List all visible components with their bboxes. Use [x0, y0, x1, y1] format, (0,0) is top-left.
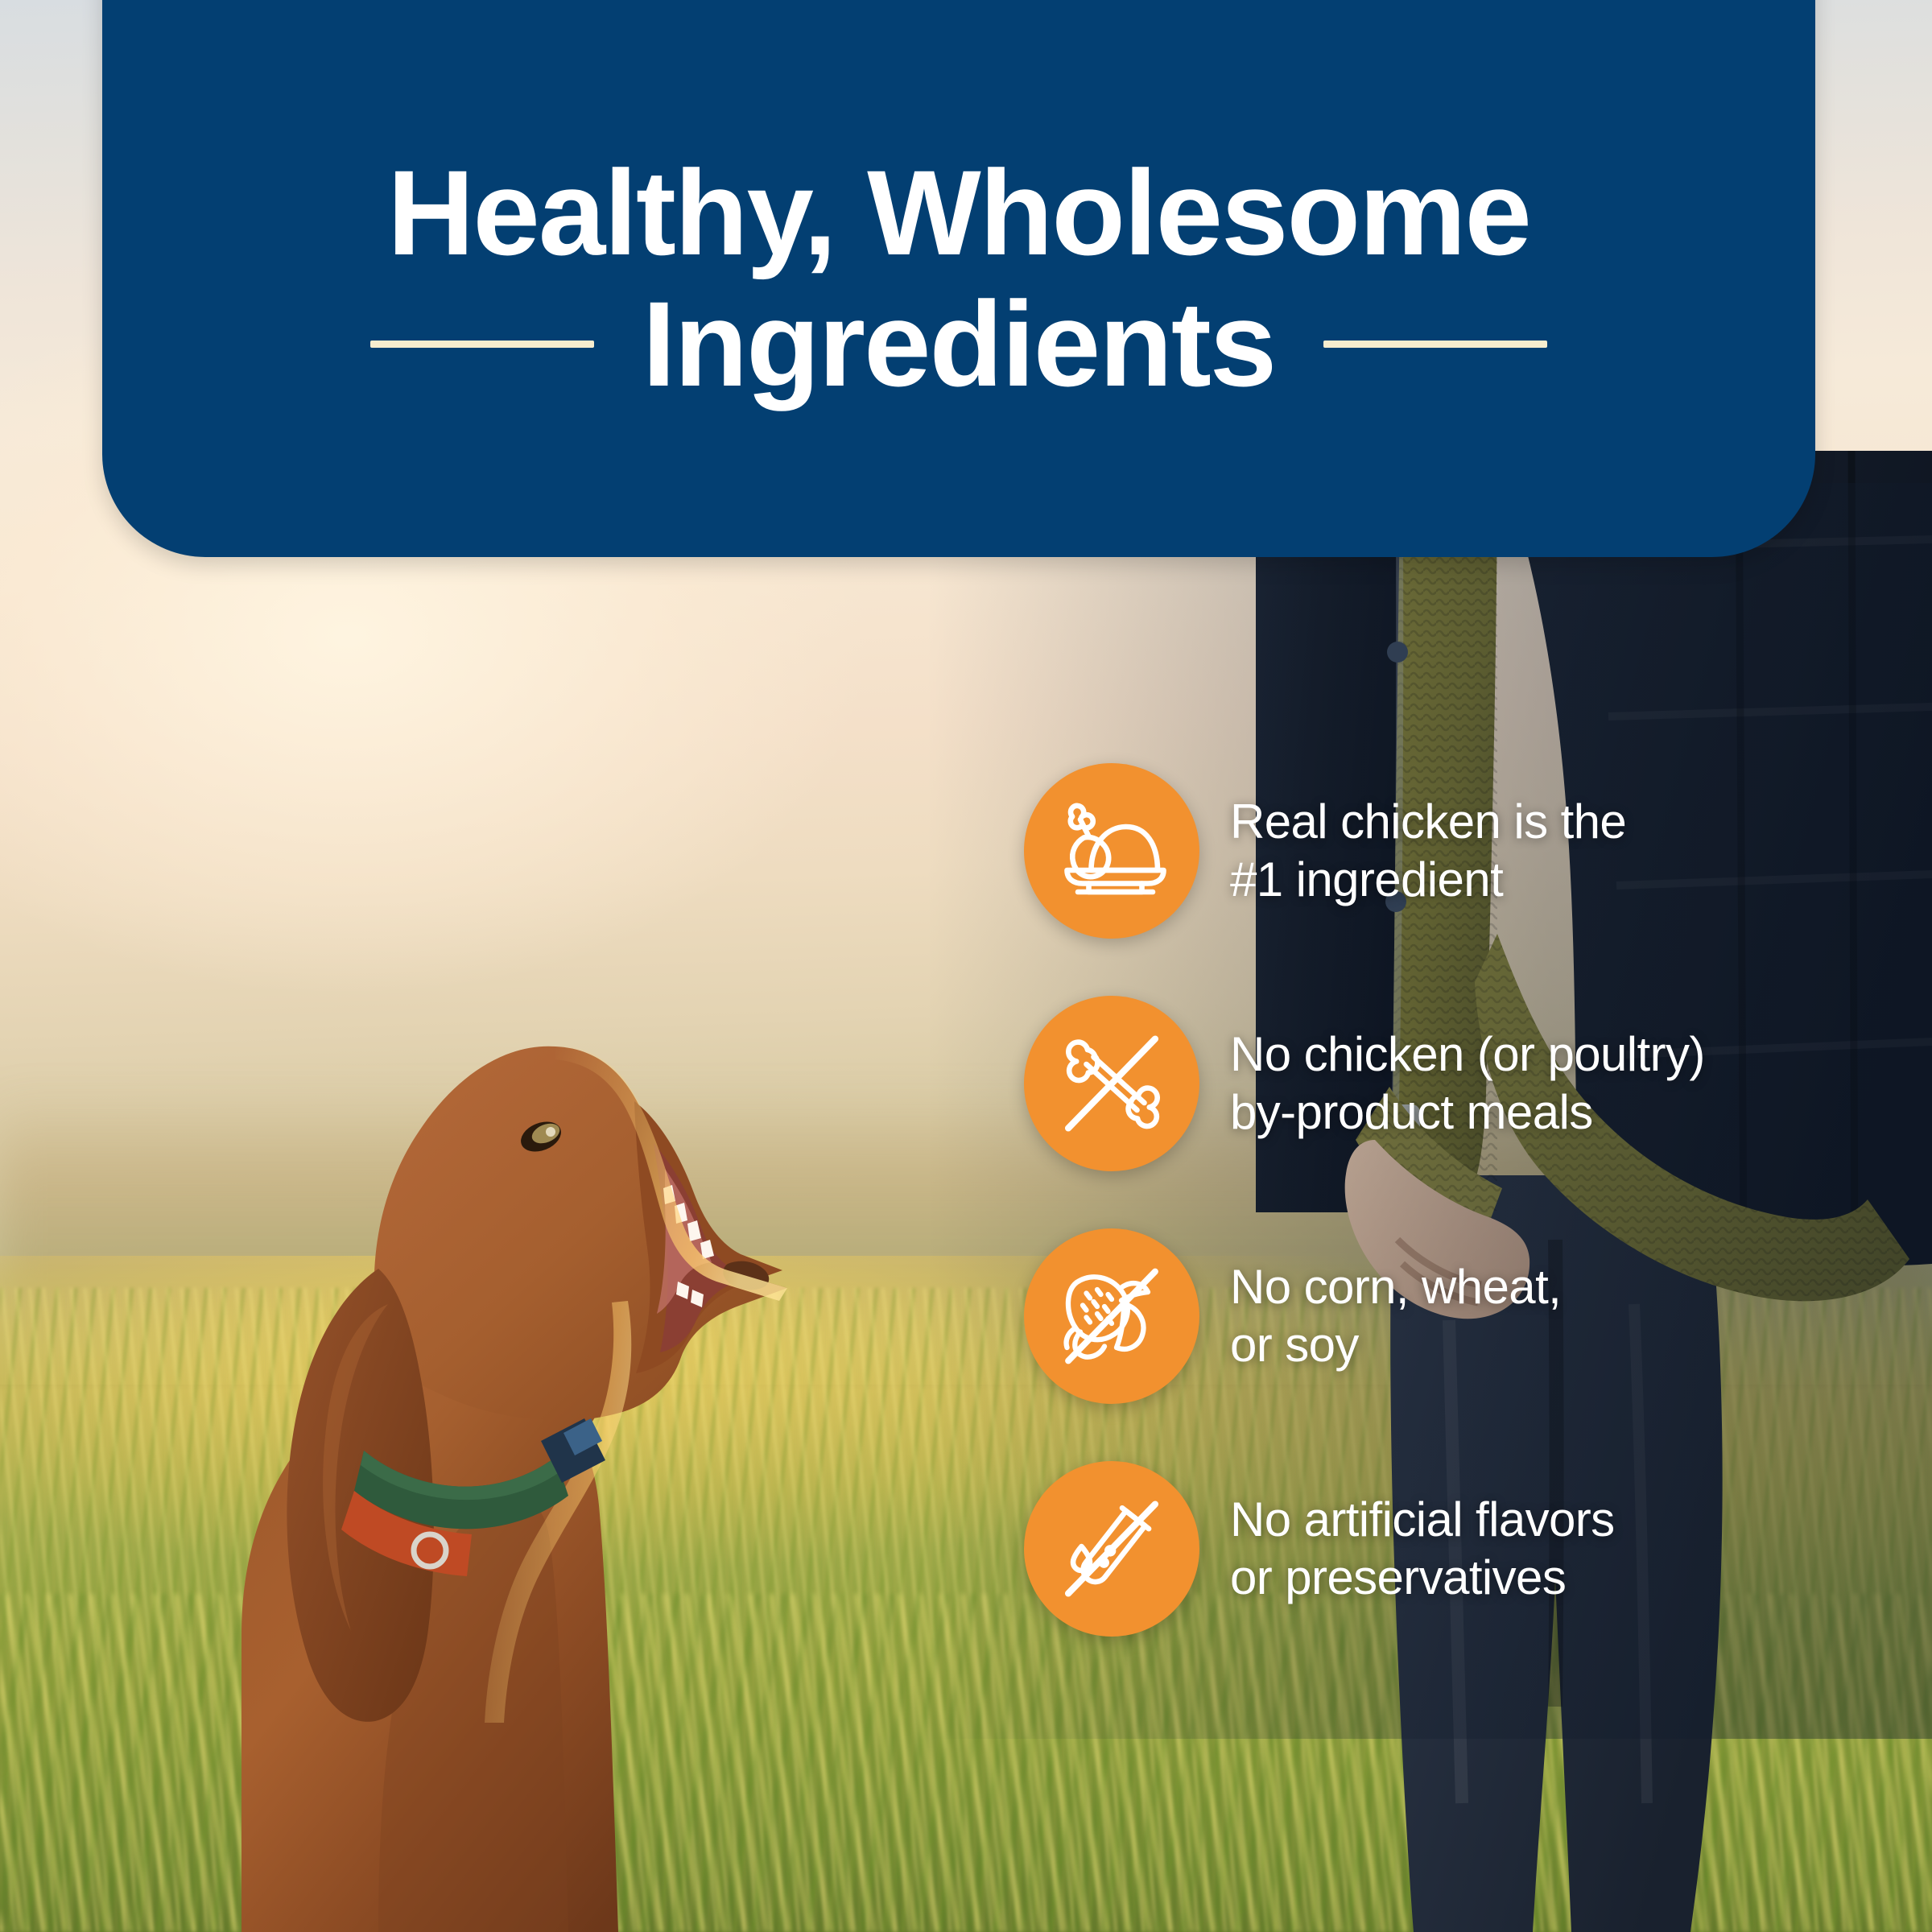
vizsla-dog-photo-subject [0, 628, 950, 1932]
feature-item: No artificial flavors or preservatives [1024, 1461, 1901, 1637]
feature-badge [1024, 1228, 1199, 1404]
feature-label: No artificial flavors or preservatives [1230, 1491, 1615, 1607]
feature-badge [1024, 996, 1199, 1171]
feature-badge [1024, 1461, 1199, 1637]
page-title-line-1: Healthy, Wholesome [387, 151, 1530, 275]
roast-chicken-platter-icon [1051, 791, 1172, 911]
feature-item: No corn, wheat, or soy [1024, 1228, 1901, 1404]
no-test-tube-slash-icon [1051, 1488, 1172, 1609]
feature-badge [1024, 763, 1199, 939]
page-title-line-2: Ingredients [642, 283, 1275, 406]
header-panel: Healthy, Wholesome Ingredients [102, 0, 1815, 557]
no-bone-slash-icon [1051, 1023, 1172, 1144]
feature-label: No chicken (or poultry) by-product meals [1230, 1026, 1705, 1141]
decorative-rule-right-icon [1323, 341, 1547, 348]
feature-item: No chicken (or poultry) by-product meals [1024, 996, 1901, 1171]
feature-item: Real chicken is the #1 ingredient [1024, 763, 1901, 939]
decorative-rule-left-icon [370, 341, 594, 348]
feature-list: Real chicken is the #1 ingredient No chi… [1024, 763, 1901, 1637]
page-title-row-2: Ingredients [102, 283, 1815, 406]
feature-label: No corn, wheat, or soy [1230, 1258, 1561, 1374]
feature-label: Real chicken is the #1 ingredient [1230, 793, 1626, 909]
no-corn-slash-icon [1051, 1256, 1172, 1377]
promo-card: Healthy, Wholesome Ingredients [0, 0, 1932, 1932]
